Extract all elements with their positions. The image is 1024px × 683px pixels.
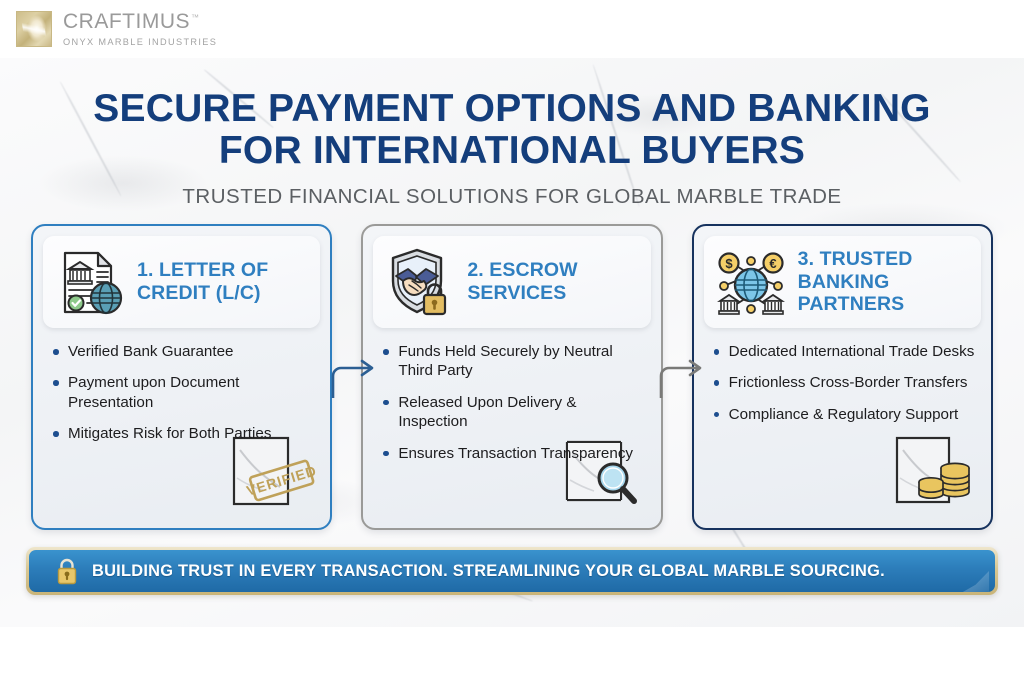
list-item: Verified Bank Guarantee	[51, 342, 316, 361]
card-header: $ €	[704, 236, 981, 328]
gold-padlock-icon	[55, 558, 79, 585]
page-title-line-1: SECURE PAYMENT OPTIONS AND BANKING	[93, 87, 930, 130]
title-block: SECURE PAYMENT OPTIONS AND BANKING FOR I…	[0, 88, 1024, 209]
page-title: SECURE PAYMENT OPTIONS AND BANKING FOR I…	[0, 88, 1024, 171]
list-item: Frictionless Cross-Border Transfers	[712, 373, 977, 392]
list-item: Compliance & Regulatory Support	[712, 405, 977, 424]
svg-text:VERIFIED: VERIFIED	[245, 462, 316, 499]
list-item: Payment upon Document Presentation	[51, 373, 316, 412]
list-item: Ensures Transaction Transparency	[381, 444, 646, 463]
trademark-symbol: ™	[191, 13, 200, 22]
page-subtitle: TRUSTED FINANCIAL SOLUTIONS FOR GLOBAL M…	[0, 185, 1024, 209]
card-header: 1. LETTER OF CREDIT (L/C)	[43, 236, 320, 328]
svg-text:€: €	[769, 256, 776, 271]
list-item: Funds Held Securely by Neutral Third Par…	[381, 342, 646, 381]
bottom-banner-frame: BUILDING TRUST IN EVERY TRANSACTION. STR…	[26, 547, 998, 595]
svg-text:$: $	[725, 256, 733, 271]
infographic-stage: CRAFTIMUS™ ONYX MARBLE INDUSTRIES SECURE…	[0, 0, 1024, 683]
card-escrow-services[interactable]: 2. ESCROW SERVICES Funds Held Securely b…	[361, 224, 662, 530]
card-title: 3. TRUSTED BANKING PARTNERS	[798, 248, 971, 316]
brand-tagline: ONYX MARBLE INDUSTRIES	[63, 37, 217, 47]
card-bullet-list: Verified Bank Guarantee Payment upon Doc…	[43, 342, 320, 444]
page-title-line-2: FOR INTERNATIONAL BUYERS	[219, 129, 805, 172]
card-bullet-list: Funds Held Securely by Neutral Third Par…	[373, 342, 650, 463]
document-bank-globe-verified-icon	[53, 245, 127, 319]
card-bullet-list: Dedicated International Trade Desks Fric…	[704, 342, 981, 424]
brand-name: CRAFTIMUS™	[63, 11, 200, 32]
shield-handshake-padlock-icon	[383, 245, 457, 319]
brand-header: CRAFTIMUS™ ONYX MARBLE INDUSTRIES	[0, 0, 1024, 58]
arrow-card2-to-card3	[653, 352, 709, 398]
arrow-card1-to-card2	[325, 352, 381, 398]
list-item: Mitigates Risk for Both Parties	[51, 424, 316, 443]
cards-row: 1. LETTER OF CREDIT (L/C) VERIFIED Verif…	[31, 224, 993, 530]
marble-swatch-logo-icon	[16, 11, 52, 47]
brand-lockup: CRAFTIMUS™ ONYX MARBLE INDUSTRIES	[63, 11, 217, 47]
card-trusted-banking-partners[interactable]: $ €	[692, 224, 993, 530]
list-item: Released Upon Delivery & Inspection	[381, 393, 646, 432]
coin-stacks-document-icon	[889, 430, 977, 512]
card-title: 2. ESCROW SERVICES	[467, 259, 640, 304]
card-header: 2. ESCROW SERVICES	[373, 236, 650, 328]
list-item: Dedicated International Trade Desks	[712, 342, 977, 361]
bottom-banner[interactable]: BUILDING TRUST IN EVERY TRANSACTION. STR…	[29, 550, 995, 592]
brand-name-text: CRAFTIMUS	[63, 10, 190, 33]
globe-currency-banks-network-icon: $ €	[714, 245, 788, 319]
banner-text: BUILDING TRUST IN EVERY TRANSACTION. STR…	[92, 562, 885, 581]
card-title: 1. LETTER OF CREDIT (L/C)	[137, 259, 310, 304]
card-letter-of-credit[interactable]: 1. LETTER OF CREDIT (L/C) VERIFIED Verif…	[31, 224, 332, 530]
